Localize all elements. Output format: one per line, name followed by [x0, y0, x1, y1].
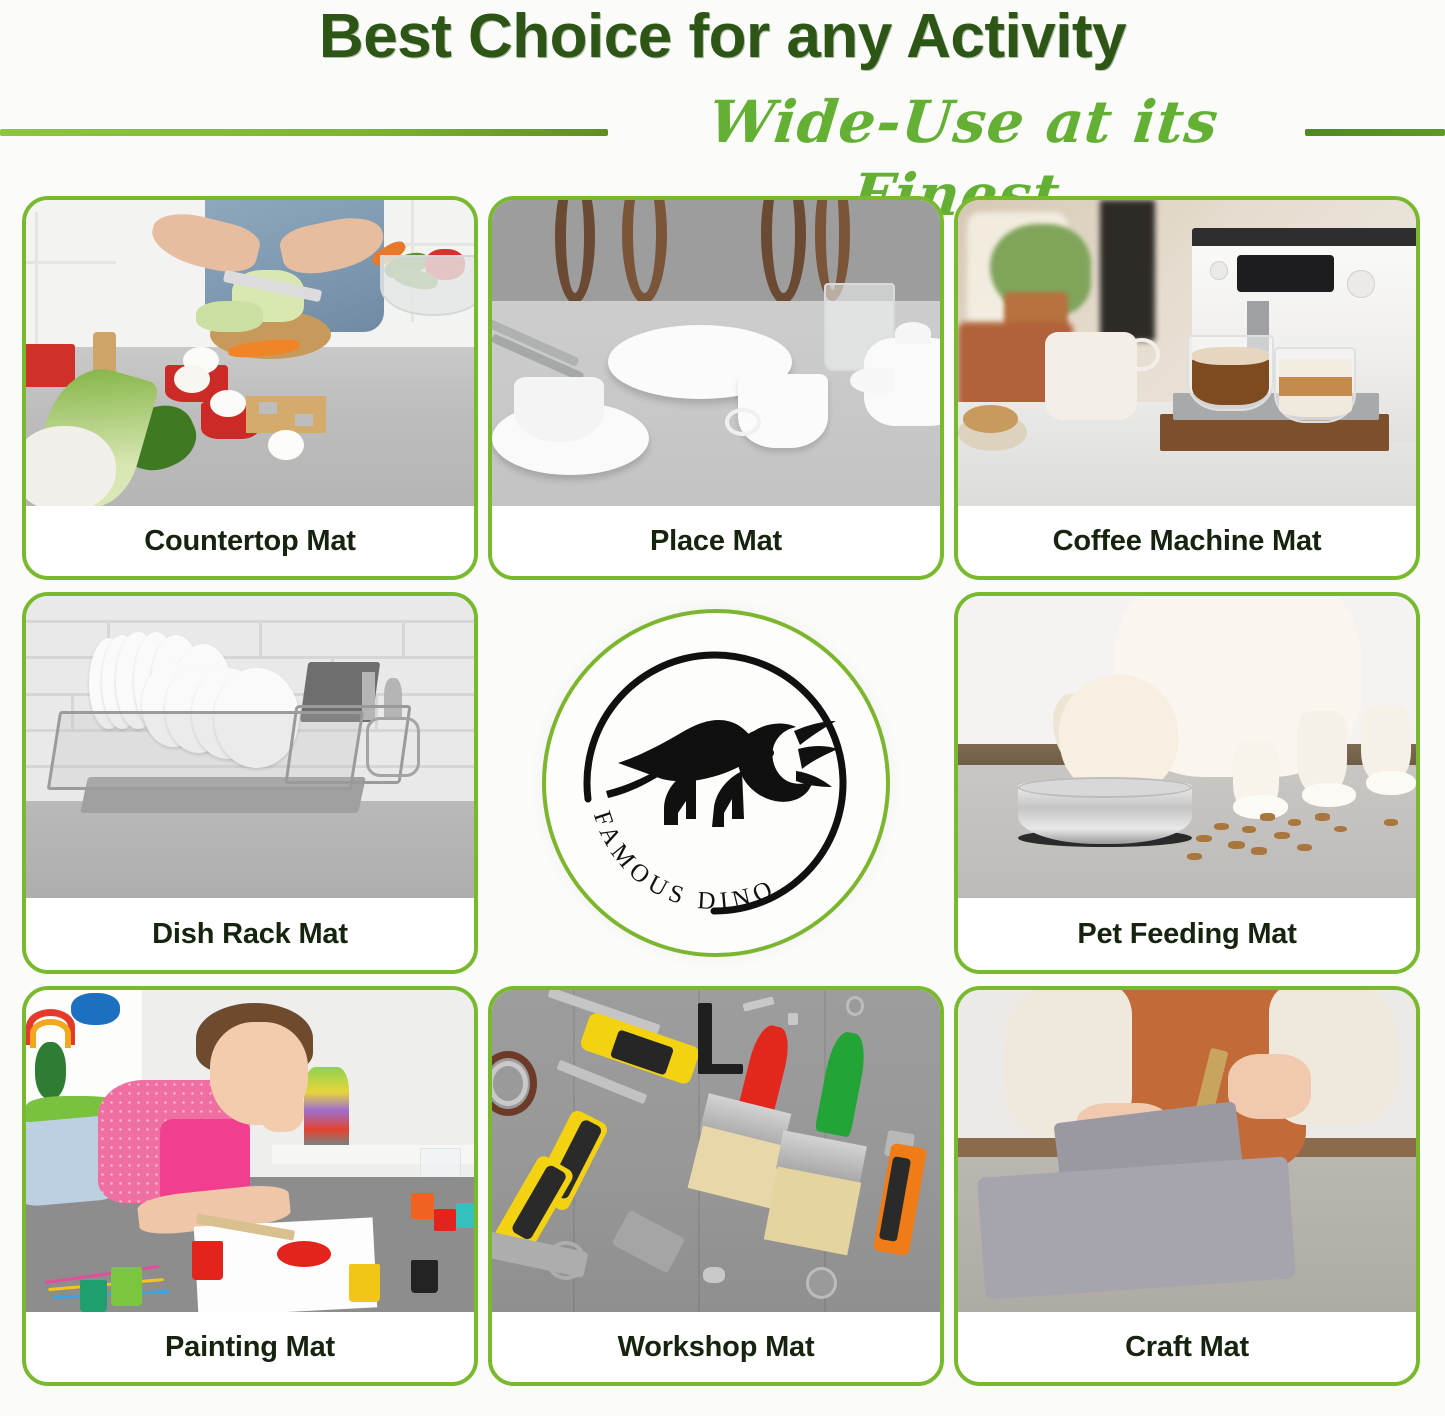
famous-dino-logo: FAMOUS DINO: [542, 609, 890, 957]
photo-espresso-machine-with-two-coffees: [958, 200, 1416, 506]
card-label: Craft Mat: [958, 1312, 1416, 1382]
card-workshop-mat[interactable]: Workshop Mat: [488, 986, 944, 1386]
brand-name-text: FAMOUS DINO: [588, 808, 781, 916]
brand-logo-cell: FAMOUS DINO: [488, 592, 944, 974]
photo-hands-cutting-fabric-with-scissors: [958, 990, 1416, 1312]
card-place-mat[interactable]: Place Mat: [488, 196, 944, 580]
card-painting-mat[interactable]: Painting Mat: [22, 986, 478, 1386]
subtitle-row: Wide-Use at its Finest: [0, 88, 1445, 174]
card-label: Workshop Mat: [492, 1312, 940, 1382]
photo-kitchen-counter-chopping-vegetables: [26, 200, 474, 506]
card-coffee-machine-mat[interactable]: Coffee Machine Mat: [954, 196, 1420, 580]
card-pet-feeding-mat[interactable]: Pet Feeding Mat: [954, 592, 1420, 974]
photo-dog-eating-from-steel-bowl: [958, 596, 1416, 898]
page-header: Best Choice for any Activity Wide-Use at…: [0, 0, 1445, 175]
photo-dish-drying-rack-with-plates: [26, 596, 474, 898]
photo-dining-table-white-dishware: [492, 200, 940, 506]
divider-rule-left: [0, 129, 608, 136]
card-craft-mat[interactable]: Craft Mat: [954, 986, 1420, 1386]
photo-girl-painting-with-paints: [26, 990, 474, 1312]
card-countertop-mat[interactable]: Countertop Mat: [22, 196, 478, 580]
divider-rule-right: [1305, 129, 1445, 136]
card-label: Countertop Mat: [26, 506, 474, 576]
card-label: Pet Feeding Mat: [958, 898, 1416, 970]
card-label: Dish Rack Mat: [26, 898, 474, 970]
card-dish-rack-mat[interactable]: Dish Rack Mat: [22, 592, 478, 974]
card-label: Place Mat: [492, 506, 940, 576]
svg-text:FAMOUS DINO: FAMOUS DINO: [588, 808, 781, 916]
card-label: Coffee Machine Mat: [958, 506, 1416, 576]
activity-card-grid: Countertop Mat: [22, 196, 1424, 1394]
card-label: Painting Mat: [26, 1312, 474, 1382]
photo-tools-brushes-pliers-wrench: [492, 990, 940, 1312]
triceratops-dino-icon: FAMOUS DINO: [546, 613, 886, 953]
page-title: Best Choice for any Activity: [0, 4, 1445, 69]
